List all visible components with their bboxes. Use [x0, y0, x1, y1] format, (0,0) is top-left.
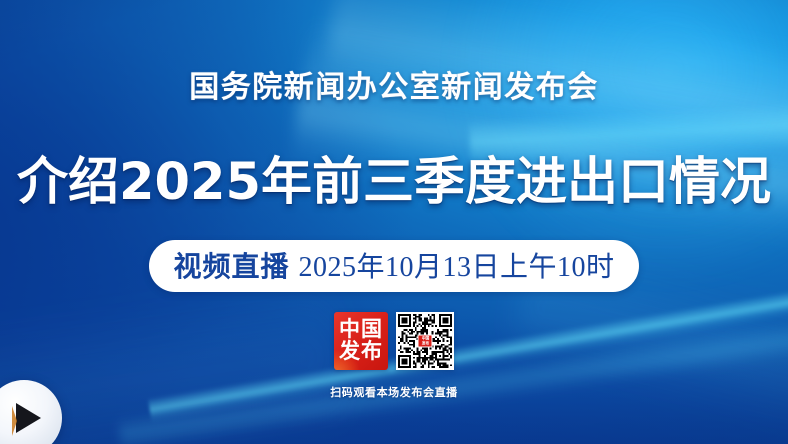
play-triangle-icon	[16, 403, 41, 433]
logo-line-2: 发布	[339, 341, 383, 363]
scan-caption: 扫码观看本场发布会直播	[0, 384, 788, 400]
page-title: 介绍2025年前三季度进出口情况	[0, 156, 788, 210]
livestream-badge-label: 视频直播	[173, 245, 289, 285]
live-stream-poster: 国务院新闻办公室新闻发布会 介绍2025年前三季度进出口情况 视频直播 2025…	[0, 0, 788, 444]
livestream-badge-datetime: 2025年10月13日上午10时	[299, 245, 615, 285]
qr-code[interactable]: 中国 发布	[396, 312, 454, 370]
livestream-badge: 视频直播 2025年10月13日上午10时	[149, 240, 638, 292]
play-triangle-accent-icon	[12, 406, 17, 436]
logo-line-1: 中国	[339, 319, 383, 341]
brand-row: 中国 发布 中国 发布	[0, 312, 788, 370]
livestream-badge-row: 视频直播 2025年10月13日上午10时	[0, 240, 788, 292]
organizer-title: 国务院新闻办公室新闻发布会	[0, 62, 788, 106]
qr-center-logo: 中国 发布	[418, 335, 433, 348]
china-release-logo: 中国 发布	[334, 312, 388, 370]
qr-center-line-2: 发布	[421, 341, 429, 345]
